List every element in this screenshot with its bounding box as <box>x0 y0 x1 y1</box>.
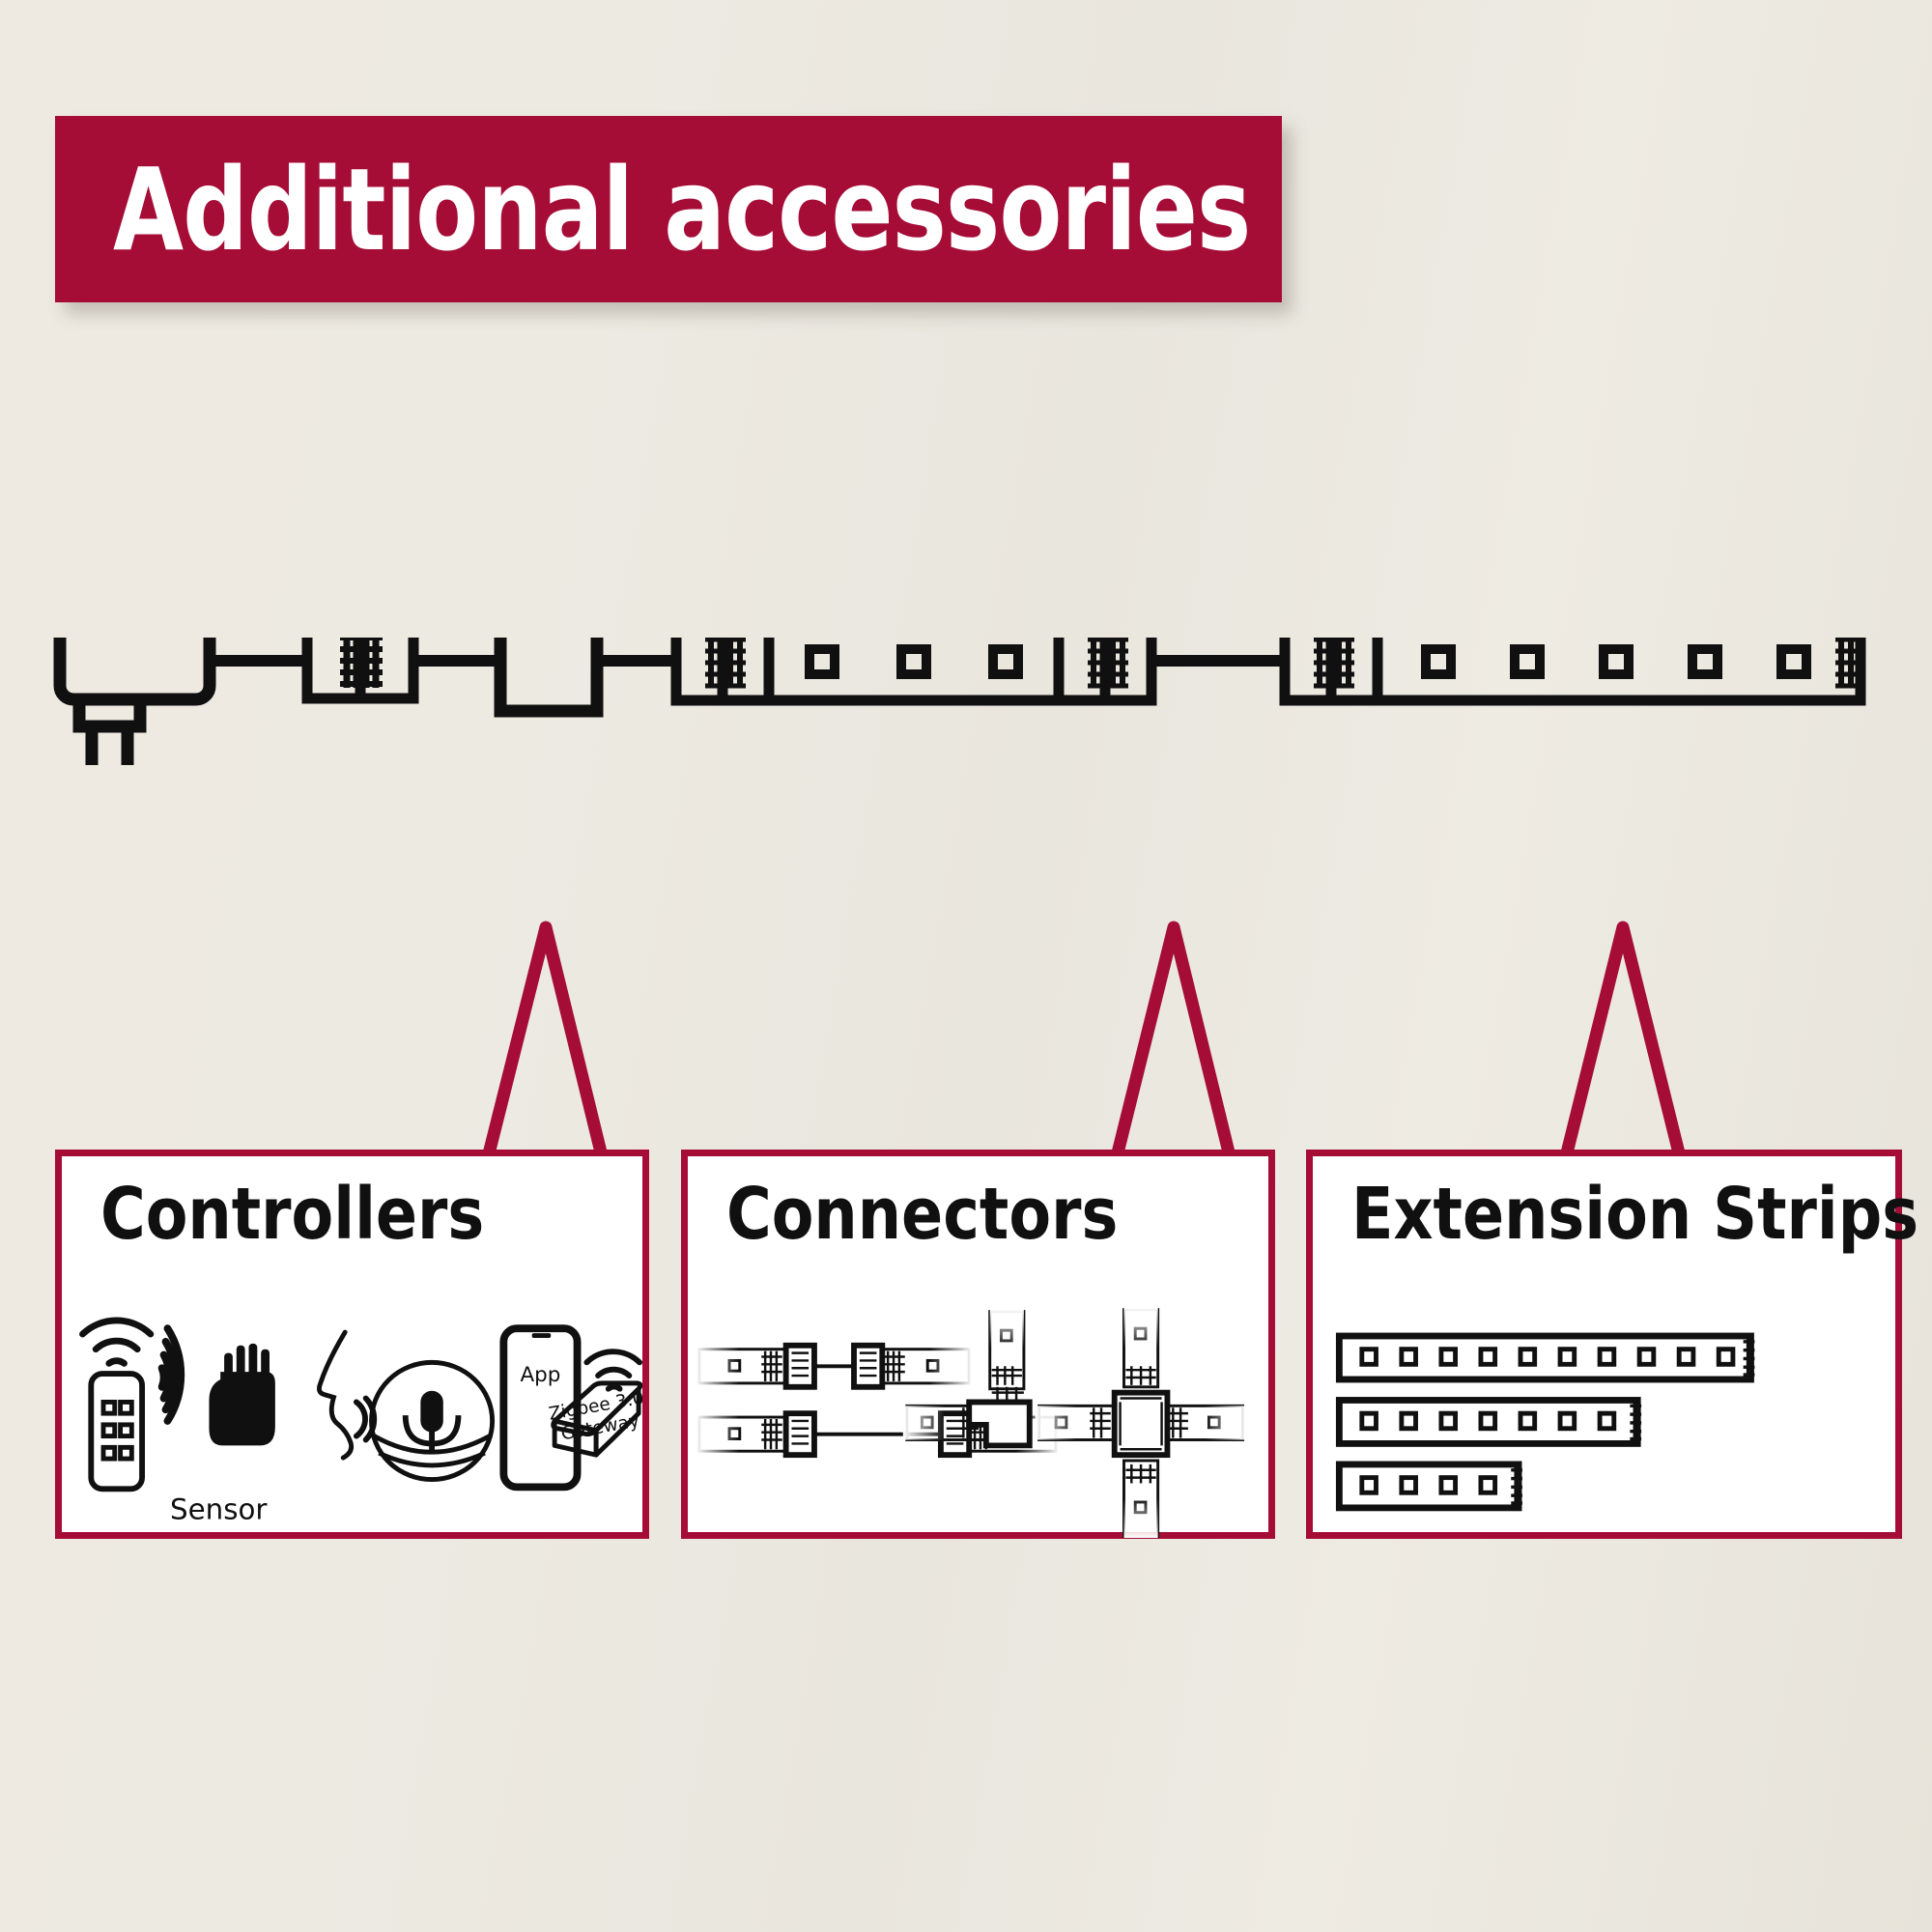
led-dot <box>810 649 835 674</box>
led-strip-icon <box>676 638 1151 700</box>
fade-mask <box>696 1413 739 1455</box>
x-cross-body <box>1115 1393 1168 1455</box>
led-dot <box>1604 649 1629 674</box>
extension-strips-illustration <box>1313 1301 1895 1538</box>
page-title: Additional accessories <box>113 153 1250 267</box>
motion-sensor-hand-icon <box>162 1328 275 1445</box>
controller-box-icon <box>500 638 597 711</box>
card-title-extension: Extension Strips <box>1351 1178 1918 1253</box>
led-dot <box>1426 649 1451 674</box>
remote-buttons <box>103 1402 131 1459</box>
remote-control-icon <box>82 1321 150 1489</box>
card-title-controllers: Controllers <box>100 1178 484 1253</box>
fade-mask <box>903 1406 945 1439</box>
power-supply-plug-icon <box>60 638 210 765</box>
led-dot <box>1692 649 1718 674</box>
led-dot <box>1781 649 1806 674</box>
fade-mask <box>1123 1308 1157 1348</box>
card-title-connectors: Connectors <box>726 1178 1118 1253</box>
title-banner: Additional accessories <box>55 116 1282 302</box>
cross-x-connector-icon <box>1036 1308 1247 1538</box>
led-dot <box>901 649 926 674</box>
led-dot <box>1515 649 1540 674</box>
strip-to-strip-short-cable-icon <box>696 1346 973 1387</box>
card-controllers[interactable]: Controllers <box>55 1150 649 1539</box>
led-strip-medium-icon <box>1339 1400 1641 1443</box>
phone-notch <box>532 1333 552 1338</box>
card-extension-strips[interactable]: Extension Strips <box>1306 1150 1902 1539</box>
fade-mask <box>696 1346 739 1387</box>
hand-glyph <box>209 1344 274 1446</box>
led-strip-long-icon <box>1339 1336 1754 1379</box>
fade-mask <box>1036 1406 1077 1439</box>
led-strip-short-icon <box>1339 1464 1522 1508</box>
fade-mask <box>990 1310 1024 1348</box>
voice-assistant-speaker-icon <box>319 1332 492 1479</box>
led-system-chain-diagram <box>0 638 1932 908</box>
controllers-illustration: App Zigbee 3.0 Gateway Sensor <box>62 1301 642 1538</box>
phone-app-label: App <box>520 1363 560 1387</box>
fade-mask <box>1123 1498 1157 1538</box>
card-connectors[interactable]: Connectors <box>681 1150 1275 1539</box>
fade-mask <box>929 1346 973 1387</box>
sensor-label: Sensor <box>170 1493 268 1526</box>
led-strip-icon <box>1285 638 1861 700</box>
strip-connector-icon <box>307 638 413 698</box>
poster-canvas: Additional accessories <box>0 0 1932 1932</box>
fade-mask <box>1206 1406 1247 1439</box>
led-dot <box>993 649 1018 674</box>
connectors-illustration <box>688 1301 1268 1538</box>
